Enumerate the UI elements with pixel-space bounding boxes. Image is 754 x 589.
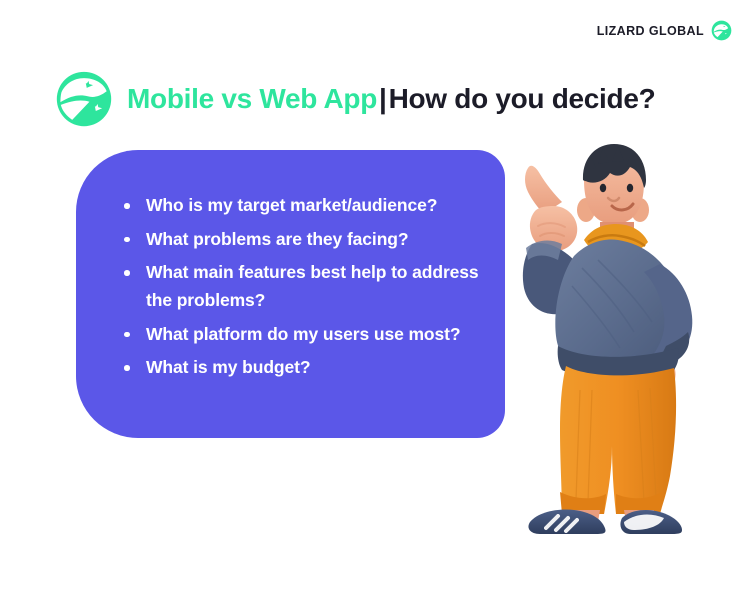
questions-list: Who is my target market/audience? What p… [122, 192, 487, 388]
3d-character-pointing-up [488, 140, 736, 535]
page-title-text: Mobile vs Web App|How do you decide? [127, 85, 655, 113]
brand-lockup: LIZARD GLOBAL [597, 20, 732, 41]
page-title: Mobile vs Web App|How do you decide? [55, 70, 655, 128]
page-title-highlight: Mobile vs Web App [127, 83, 377, 114]
list-item: What problems are they facing? [122, 226, 487, 254]
lizard-logo-icon [711, 20, 732, 41]
sneakers [528, 510, 682, 535]
questions-card: Who is my target market/audience? What p… [76, 150, 505, 438]
page-title-separator: | [377, 83, 389, 114]
page-title-rest: How do you decide? [389, 83, 656, 114]
slide-canvas: LIZARD GLOBAL [0, 0, 754, 589]
character-head [577, 144, 649, 224]
pointing-hand [525, 166, 577, 251]
list-item: Who is my target market/audience? [122, 192, 487, 220]
list-item: What platform do my users use most? [122, 321, 487, 349]
list-item: What main features best help to address … [122, 259, 487, 314]
list-item: What is my budget? [122, 354, 487, 382]
brand-name: LIZARD GLOBAL [597, 24, 704, 38]
lizard-logo-icon [55, 70, 113, 128]
